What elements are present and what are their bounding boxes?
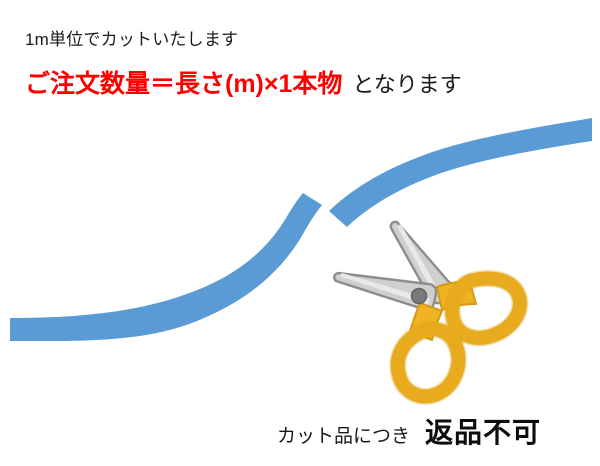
cable-right-segment (329, 118, 592, 227)
headline-line-2: ご注文数量＝長さ(m)×1本物となります (25, 72, 462, 97)
headline-emphasis: ご注文数量＝長さ(m)×1本物 (25, 70, 342, 98)
footnote-prefix: カット品につき (277, 426, 410, 447)
scissors-icon (334, 222, 520, 397)
headline-line-1: 1m単位でカットいたします (25, 31, 238, 48)
footnote-emphasis: 返品不可 (410, 417, 541, 448)
scissors-handle-upper-loop-outline (452, 279, 520, 338)
scissors-rivet (412, 289, 427, 304)
notice-canvas: 1m単位でカットいたします ご注文数量＝長さ(m)×1本物となります カット品に… (0, 0, 600, 466)
cable-left-segment (10, 193, 322, 341)
headline-tail: となります (342, 72, 461, 97)
footnote-line: カット品につき返品不可 (277, 419, 541, 447)
